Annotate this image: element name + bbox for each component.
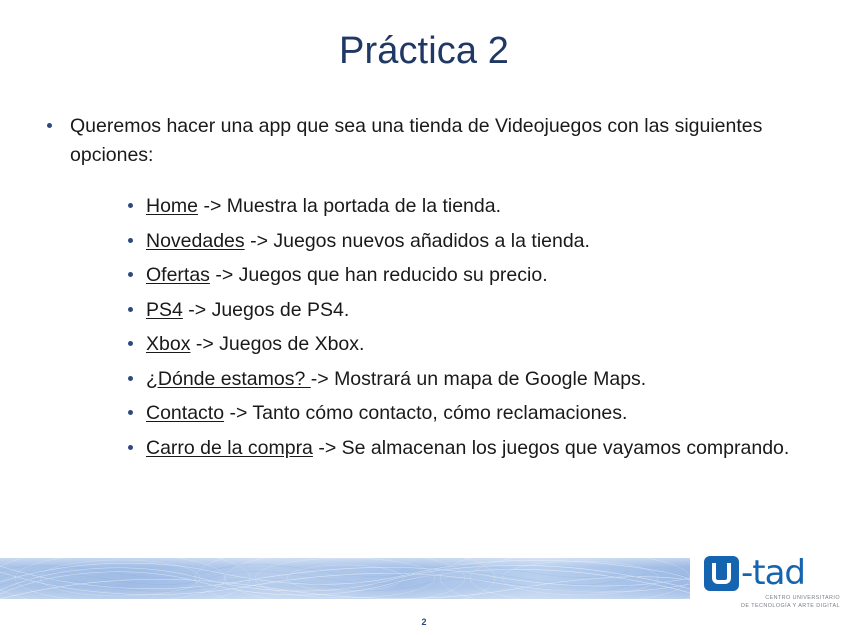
- bullet-dot-icon: [128, 307, 133, 312]
- decorative-band: [0, 558, 690, 599]
- option-link-label[interactable]: ¿Dónde estamos?: [146, 368, 311, 390]
- bullet-dot-icon: [128, 203, 133, 208]
- option-description: -> Juegos nuevos añadidos a la tienda.: [245, 230, 590, 252]
- bullet-dot-icon: [47, 123, 52, 128]
- option-description: -> Mostrará un mapa de Google Maps.: [311, 368, 646, 390]
- logo-subtitle: CENTRO UNIVERSITARIO DE TECNOLOGÍA Y ART…: [706, 595, 840, 610]
- bullet-dot-icon: [128, 445, 133, 450]
- utad-logo: -tad CENTRO UNIVERSITARIO DE TECNOLOGÍA …: [704, 556, 840, 614]
- option-link-label[interactable]: Home: [146, 195, 198, 217]
- options-list: Home -> Muestra la portada de la tienda.…: [44, 192, 804, 463]
- option-link-label[interactable]: Carro de la compra: [146, 437, 313, 459]
- intro-text: Queremos hacer una app que sea una tiend…: [70, 115, 762, 166]
- list-item: Home -> Muestra la portada de la tienda.: [128, 192, 804, 221]
- intro-bullet: Queremos hacer una app que sea una tiend…: [44, 112, 804, 170]
- option-description: -> Juegos de Xbox.: [190, 333, 364, 355]
- bullet-dot-icon: [128, 341, 133, 346]
- slide: Práctica 2 Queremos hacer una app que se…: [0, 0, 848, 635]
- option-link-label[interactable]: PS4: [146, 299, 183, 321]
- list-item: Carro de la compra -> Se almacenan los j…: [128, 434, 804, 463]
- option-description: -> Muestra la portada de la tienda.: [198, 195, 501, 217]
- list-item: PS4 -> Juegos de PS4.: [128, 296, 804, 325]
- option-link-label[interactable]: Contacto: [146, 402, 224, 424]
- list-item: Xbox -> Juegos de Xbox.: [128, 330, 804, 359]
- option-description: -> Tanto cómo contacto, cómo reclamacion…: [224, 402, 627, 424]
- logo-subtitle-line2: DE TECNOLOGÍA Y ARTE DIGITAL: [706, 603, 840, 611]
- bullet-dot-icon: [128, 238, 133, 243]
- bullet-dot-icon: [128, 410, 133, 415]
- logo-u-icon: [704, 556, 739, 591]
- list-item: ¿Dónde estamos? -> Mostrará un mapa de G…: [128, 365, 804, 394]
- list-item: Contacto -> Tanto cómo contacto, cómo re…: [128, 399, 804, 428]
- option-link-label[interactable]: Novedades: [146, 230, 245, 252]
- option-description: -> Se almacenan los juegos que vayamos c…: [313, 437, 789, 459]
- bullet-dot-icon: [128, 376, 133, 381]
- page-number: 2: [0, 617, 848, 627]
- option-description: -> Juegos que han reducido su precio.: [210, 264, 548, 286]
- option-link-label[interactable]: Ofertas: [146, 264, 210, 286]
- bullet-dot-icon: [128, 272, 133, 277]
- option-link-label[interactable]: Xbox: [146, 333, 190, 355]
- logo-mark: -tad: [704, 556, 805, 591]
- logo-wordmark: -tad: [741, 556, 805, 590]
- slide-body: Queremos hacer una app que sea una tiend…: [44, 112, 804, 468]
- list-item: Ofertas -> Juegos que han reducido su pr…: [128, 261, 804, 290]
- page-title: Práctica 2: [0, 28, 848, 74]
- option-description: -> Juegos de PS4.: [183, 299, 349, 321]
- logo-subtitle-line1: CENTRO UNIVERSITARIO: [706, 595, 840, 603]
- list-item: Novedades -> Juegos nuevos añadidos a la…: [128, 227, 804, 256]
- logo-u-glyph: [712, 563, 731, 584]
